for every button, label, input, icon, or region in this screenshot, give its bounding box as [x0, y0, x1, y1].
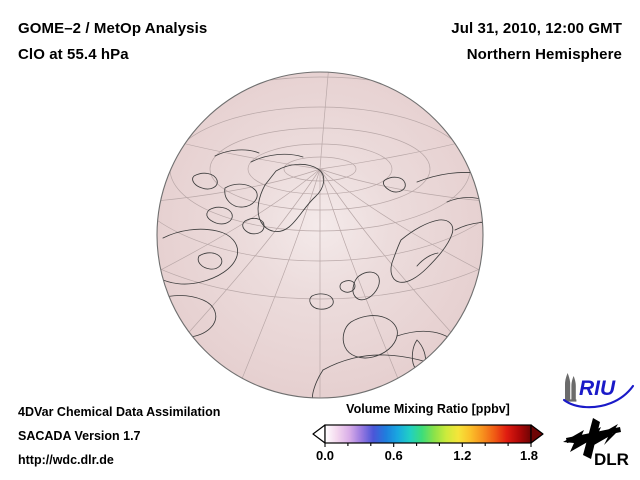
- colorbar-tick-label-0: 0.0: [316, 448, 334, 463]
- riu-spire-icon: [564, 373, 576, 402]
- footer-credits: 4DVar Chemical Data Assimilation SACADA …: [18, 400, 308, 472]
- riu-wordmark: RIU: [579, 377, 616, 400]
- colorbar-tick-label-3: 1.8: [520, 448, 538, 463]
- colorbar-ticks: [325, 443, 531, 447]
- footer-url-line: http://wdc.dlr.de: [18, 448, 308, 472]
- colorbar-tick-labels: 0.0 0.6 1.2 1.8: [312, 448, 544, 468]
- region-label: Northern Hemisphere: [302, 42, 622, 68]
- colorbar: Volume Mixing Ratio [ppbv]: [312, 400, 544, 472]
- globe-map: [155, 70, 485, 400]
- header-right-block: Jul 31, 2010, 12:00 GMT Northern Hemisph…: [302, 16, 622, 68]
- datetime-label: Jul 31, 2010, 12:00 GMT: [302, 16, 622, 42]
- dlr-logo: DLR: [560, 412, 638, 470]
- colorbar-title: Volume Mixing Ratio [ppbv]: [312, 400, 544, 418]
- header-left-block: GOME–2 / MetOp Analysis ClO at 55.4 hPa: [18, 16, 318, 68]
- colorbar-extend-min-arrow: [313, 425, 325, 443]
- colorbar-extend-max-arrow: [531, 425, 543, 443]
- riu-logo: RIU: [558, 371, 638, 409]
- colorbar-gradient: [325, 425, 531, 443]
- dlr-wordmark: DLR: [594, 450, 629, 469]
- colorbar-tick-label-2: 1.2: [453, 448, 471, 463]
- instrument-title: GOME–2 / MetOp Analysis: [18, 16, 318, 42]
- species-level-title: ClO at 55.4 hPa: [18, 42, 318, 68]
- footer-method-line: 4DVar Chemical Data Assimilation: [18, 400, 308, 424]
- colorbar-tick-label-1: 0.6: [385, 448, 403, 463]
- footer-version-line: SACADA Version 1.7: [18, 424, 308, 448]
